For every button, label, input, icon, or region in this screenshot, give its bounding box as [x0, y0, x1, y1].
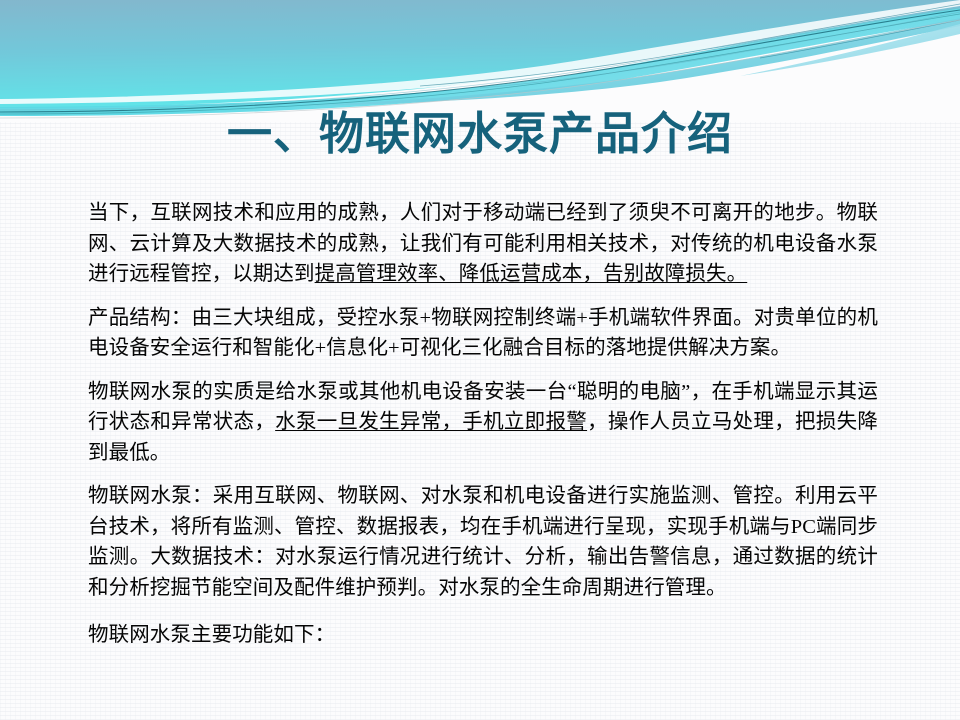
- paragraph-2: 产品结构：由三大块组成，受控水泵+物联网控制终端+手机端软件界面。对贵单位的机电…: [88, 303, 878, 364]
- page-title: 一、物联网水泵产品介绍: [227, 106, 733, 162]
- paragraph-5: 物联网水泵主要功能如下：: [88, 620, 878, 651]
- underlined-text-run: 提高管理效率、降低运营成本，告别故障损失。: [315, 263, 748, 285]
- underlined-text-run: 水泵一旦发生异常，手机立即报警: [275, 411, 587, 433]
- text-run: 产品结构：由三大块组成，受控水泵+物联网控制终端+手机端软件界面。对贵单位的机电…: [88, 307, 878, 360]
- presentation-slide: 一、物联网水泵产品介绍 当下，互联网技术和应用的成熟，人们对于移动端已经到了须臾…: [0, 0, 960, 720]
- text-run: 物联网水泵：采用互联网、物联网、对水泵和机电设备进行实施监测、管控。利用云平台技…: [88, 485, 878, 599]
- header-wave-decoration-icon: [0, 0, 960, 122]
- paragraph-1: 当下，互联网技术和应用的成熟，人们对于移动端已经到了须臾不可离开的地步。物联网、…: [88, 198, 878, 290]
- title-block: 一、物联网水泵产品介绍: [0, 106, 960, 162]
- paragraph-4: 物联网水泵：采用互联网、物联网、对水泵和机电设备进行实施监测、管控。利用云平台技…: [88, 481, 878, 603]
- slide-body: 当下，互联网技术和应用的成熟，人们对于移动端已经到了须臾不可离开的地步。物联网、…: [88, 198, 878, 651]
- text-run: 物联网水泵主要功能如下：: [88, 624, 335, 646]
- paragraph-3: 物联网水泵的实质是给水泵或其他机电设备安装一台“聪明的电脑”，在手机端显示其运行…: [88, 377, 878, 469]
